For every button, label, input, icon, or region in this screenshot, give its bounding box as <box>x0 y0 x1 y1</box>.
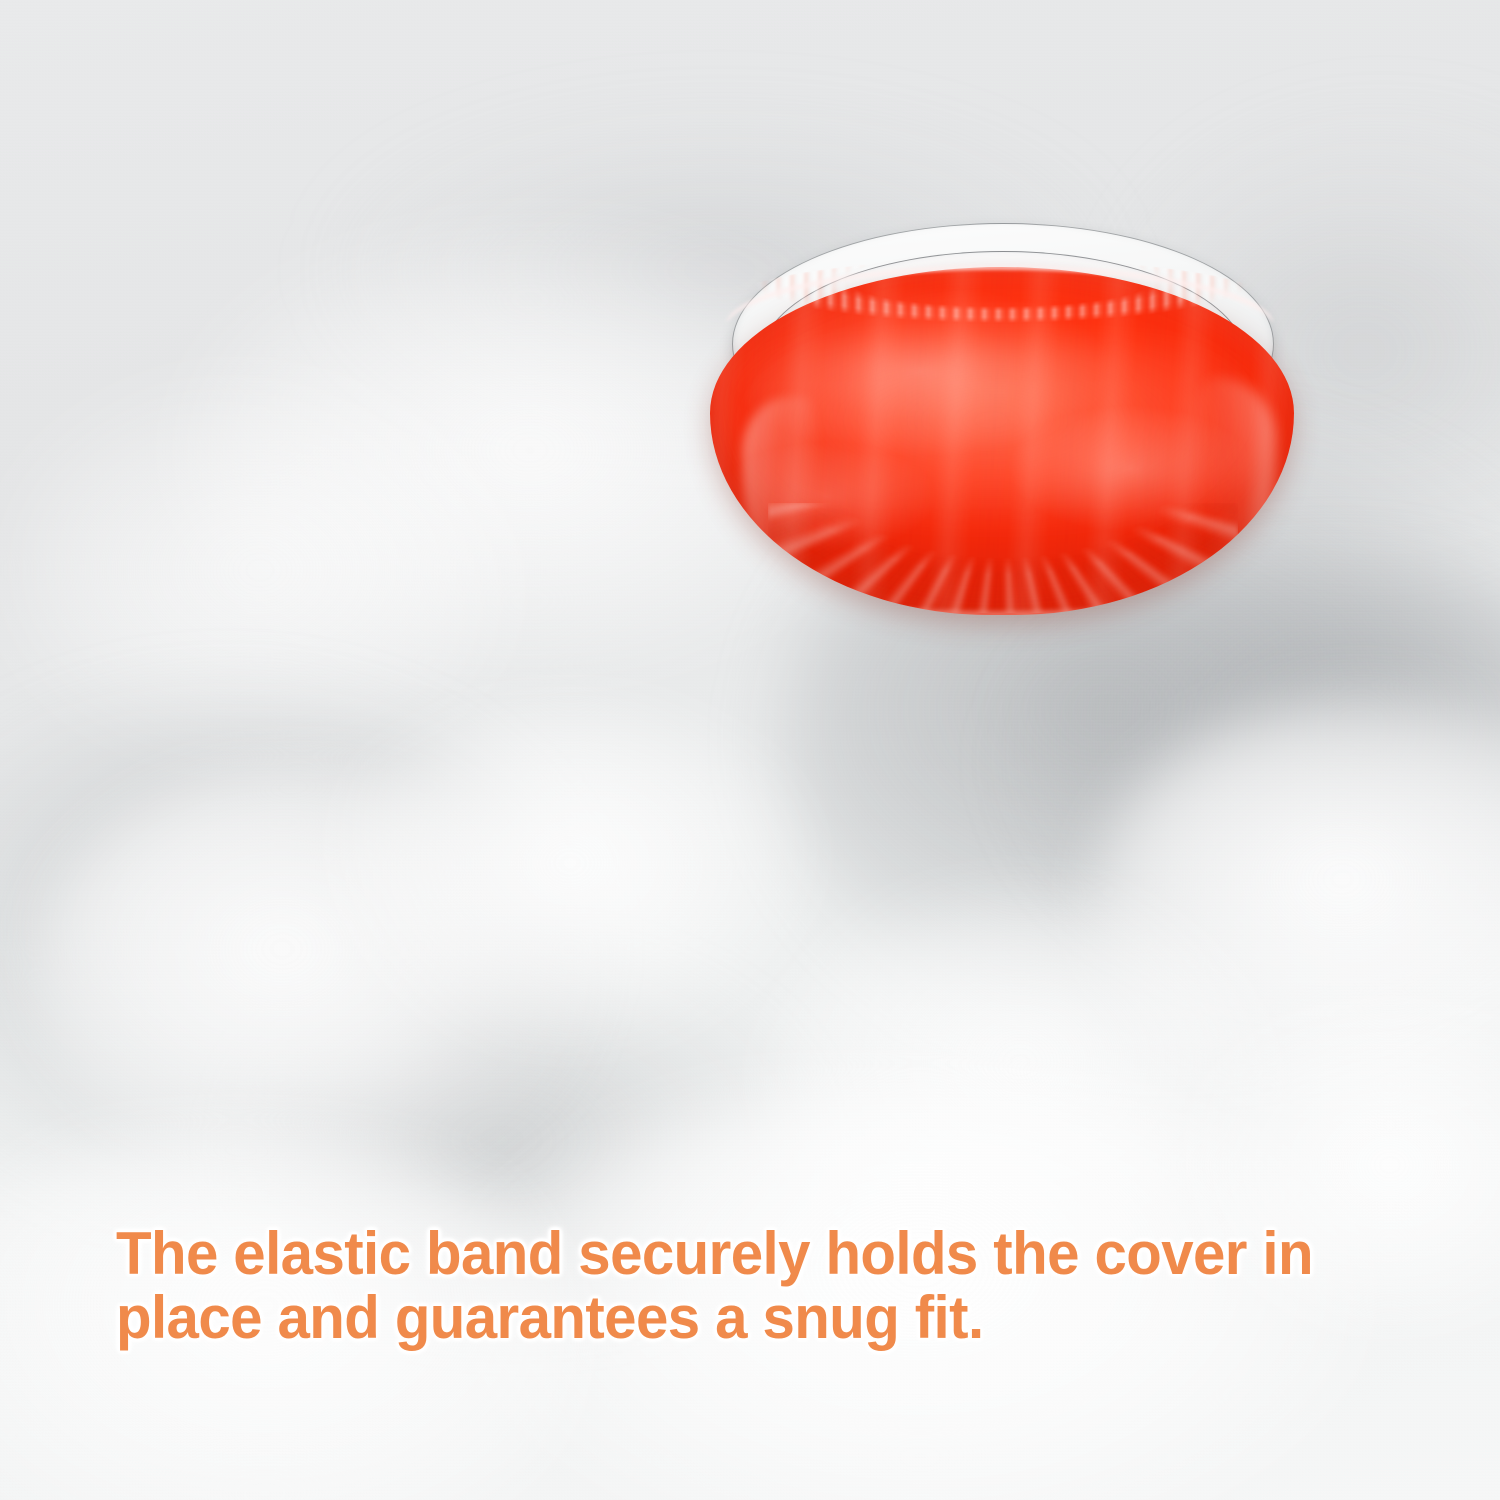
caption-text: The elastic band securely holds the cove… <box>116 1222 1377 1350</box>
cover-bottom-rim-highlight <box>722 547 1282 615</box>
product-image-canvas: The elastic band securely holds the cove… <box>0 0 1500 1500</box>
elastic-band-seam <box>726 265 1274 385</box>
smoke-detector-assembly <box>700 215 1300 635</box>
